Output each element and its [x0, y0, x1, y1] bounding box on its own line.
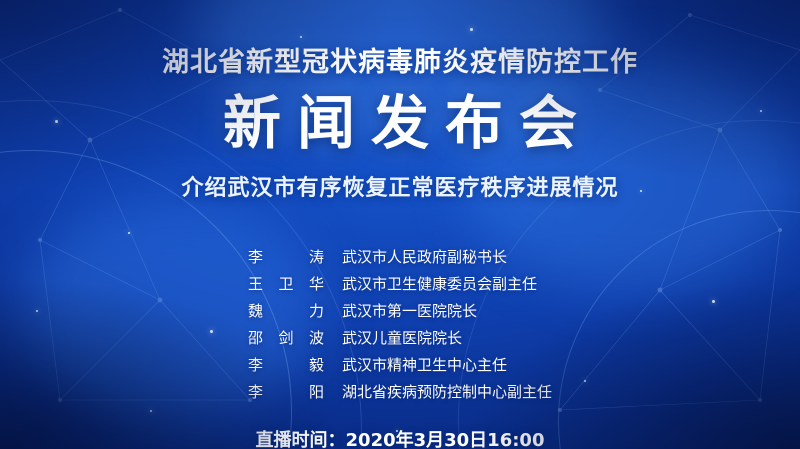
list-item: 邵剑波 武汉儿童医院院长 — [248, 327, 552, 348]
broadcast-time: 直播时间：2020年3月30日16:00 — [256, 426, 545, 449]
speaker-name: 邵剑波 — [248, 327, 324, 348]
poster-content: 湖北省新型冠状病毒肺炎疫情防控工作 新闻发布会 介绍武汉市有序恢复正常医疗秩序进… — [0, 0, 800, 449]
speaker-name: 魏力 — [248, 300, 324, 321]
speaker-title: 武汉儿童医院院长 — [342, 327, 462, 348]
list-item: 魏力 武汉市第一医院院长 — [248, 300, 552, 321]
list-item: 李毅 武汉市精神卫生中心主任 — [248, 354, 552, 375]
speaker-name: 王卫华 — [248, 273, 324, 294]
speaker-title: 湖北省疾病预防控制中心副主任 — [342, 381, 552, 402]
speaker-list: 李涛 武汉市人民政府副秘书长 王卫华 武汉市卫生健康委员会副主任 魏力 武汉市第… — [248, 246, 552, 402]
speaker-title: 武汉市人民政府副秘书长 — [342, 246, 507, 267]
page-title: 新闻发布会 — [207, 93, 593, 154]
speaker-title: 武汉市精神卫生中心主任 — [342, 354, 507, 375]
title-line-one: 湖北省新型冠状病毒肺炎疫情防控工作 — [162, 40, 638, 79]
speaker-title: 武汉市卫生健康委员会副主任 — [342, 273, 537, 294]
list-item: 王卫华 武汉市卫生健康委员会副主任 — [248, 273, 552, 294]
list-item: 李阳 湖北省疾病预防控制中心副主任 — [248, 381, 552, 402]
speaker-name: 李毅 — [248, 354, 324, 375]
speaker-name: 李涛 — [248, 246, 324, 267]
press-conference-poster: 湖北省新型冠状病毒肺炎疫情防控工作 新闻发布会 介绍武汉市有序恢复正常医疗秩序进… — [0, 0, 800, 449]
list-item: 李涛 武汉市人民政府副秘书长 — [248, 246, 552, 267]
speaker-title: 武汉市第一医院院长 — [342, 300, 477, 321]
speaker-name: 李阳 — [248, 381, 324, 402]
subtitle: 介绍武汉市有序恢复正常医疗秩序进展情况 — [181, 170, 618, 202]
